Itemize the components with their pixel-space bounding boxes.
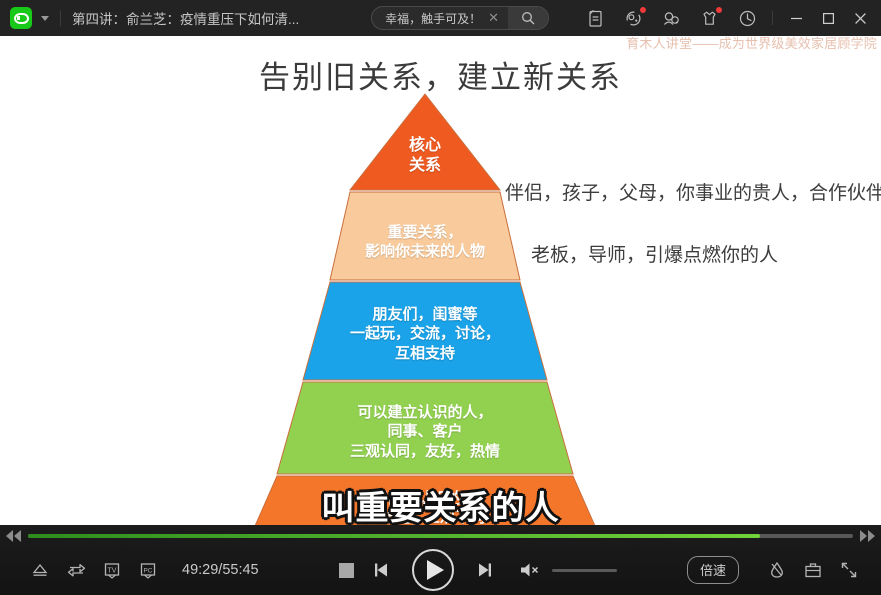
previous-track-button[interactable] <box>364 552 400 588</box>
tier-line: 同事、客户 <box>387 422 462 441</box>
buttons-row: TV PC 49:29/55:45 <box>0 547 881 595</box>
tier-line: 朋友们，闺蜜等 <box>372 305 477 324</box>
tier-line: 一起玩，交流，讨论， <box>350 324 500 343</box>
progress-bar[interactable] <box>28 534 853 538</box>
titlebar-separator <box>772 11 773 25</box>
play-icon <box>427 560 444 580</box>
tier-line: 影响你未来的人物 <box>365 242 485 261</box>
toolbox-icon[interactable] <box>795 552 831 588</box>
search-box[interactable]: 幸福，触手可及！ ✕ <box>371 6 549 30</box>
cast-tv-icon[interactable]: TV <box>94 552 130 588</box>
volume-slider[interactable] <box>552 569 617 572</box>
clear-search-icon[interactable]: ✕ <box>485 10 508 26</box>
progress-fill <box>28 534 760 538</box>
moments-icon[interactable] <box>623 8 644 29</box>
logo-glyph <box>14 13 29 24</box>
chevron-down-icon[interactable] <box>41 16 49 21</box>
tier-line: 重要关系， <box>387 223 462 242</box>
annotation-core: 伴侣，孩子，父母，你事业的贵人，合作伙伴等 <box>505 178 881 205</box>
svg-text:PC: PC <box>144 567 153 574</box>
snapshot-icon[interactable] <box>759 552 795 588</box>
time-display: 49:29/55:45 <box>182 562 259 578</box>
playback-speed-button[interactable]: 倍速 <box>687 556 739 584</box>
loop-repeat-icon[interactable] <box>58 552 94 588</box>
relationship-pyramid: 核心 关系 重要关系， 影响你未来的人物 朋友们，闺蜜等 一起玩，交流，讨论， … <box>255 92 595 525</box>
player-controls: TV PC 49:29/55:45 <box>0 525 881 595</box>
video-player-window: 第四讲：俞兰芝：疫情重压下如何清... 幸福，触手可及！ ✕ <box>0 0 881 595</box>
next-track-button[interactable] <box>466 552 502 588</box>
slide-title: 告别旧关系，建立新关系 <box>0 52 881 97</box>
tier-line: 三观认同，友好，热情 <box>350 442 500 461</box>
slide-watermark: 育木人讲堂——成为世界级美效家居顾学院 <box>626 36 877 52</box>
window-controls <box>781 4 875 32</box>
minimize-button[interactable] <box>781 4 811 32</box>
pyramid-tier-acquaintance: 可以建立认识的人， 同事、客户 三观认同，友好，热情 <box>255 392 595 472</box>
tier-line: 可以建立认识的人， <box>357 403 492 422</box>
collection-icon[interactable] <box>699 8 720 29</box>
video-title: 第四讲：俞兰芝：疫情重压下如何清... <box>72 8 299 28</box>
contacts-icon[interactable] <box>661 8 682 29</box>
fastforward-icon[interactable] <box>860 530 875 542</box>
volume-button[interactable] <box>512 552 548 588</box>
stop-icon <box>339 563 354 578</box>
title-bar: 第四讲：俞兰芝：疫情重压下如何清... 幸福，触手可及！ ✕ <box>0 0 881 36</box>
history-icon[interactable] <box>737 8 758 29</box>
titlebar-divider <box>60 10 61 26</box>
play-button[interactable] <box>412 549 454 591</box>
tier-line: 关系 <box>409 156 441 176</box>
tier-line: 核心 <box>409 136 441 156</box>
annotation-important: 老板，导师，引爆点燃你的人 <box>531 240 778 267</box>
video-stage[interactable]: 育木人讲堂——成为世界级美效家居顾学院 告别旧关系，建立新关系 核心 <box>0 36 881 525</box>
stop-button[interactable] <box>328 552 364 588</box>
close-button[interactable] <box>845 4 875 32</box>
progress-row <box>0 525 881 547</box>
video-subtitle: 叫重要关系的人 <box>0 481 881 525</box>
moments-badge <box>640 7 646 13</box>
search-input[interactable]: 幸福，触手可及！ <box>372 10 485 27</box>
rewind-icon[interactable] <box>6 530 21 542</box>
fullscreen-icon[interactable] <box>831 552 867 588</box>
tier-line: 互相支持 <box>395 344 455 363</box>
collection-badge <box>716 7 722 13</box>
iqiyi-logo[interactable] <box>10 7 32 29</box>
eject-open-file-icon[interactable] <box>22 552 58 588</box>
presentation-slide: 育木人讲堂——成为世界级美效家居顾学院 告别旧关系，建立新关系 核心 <box>0 36 881 525</box>
svg-text:TV: TV <box>108 567 117 574</box>
search-icon[interactable] <box>508 7 548 29</box>
pyramid-tier-friends: 朋友们，闺蜜等 一起玩，交流，讨论， 互相支持 <box>255 292 595 376</box>
notes-icon[interactable] <box>585 8 606 29</box>
cast-pc-icon[interactable]: PC <box>130 552 166 588</box>
maximize-button[interactable] <box>813 4 843 32</box>
titlebar-icon-group <box>585 8 758 29</box>
